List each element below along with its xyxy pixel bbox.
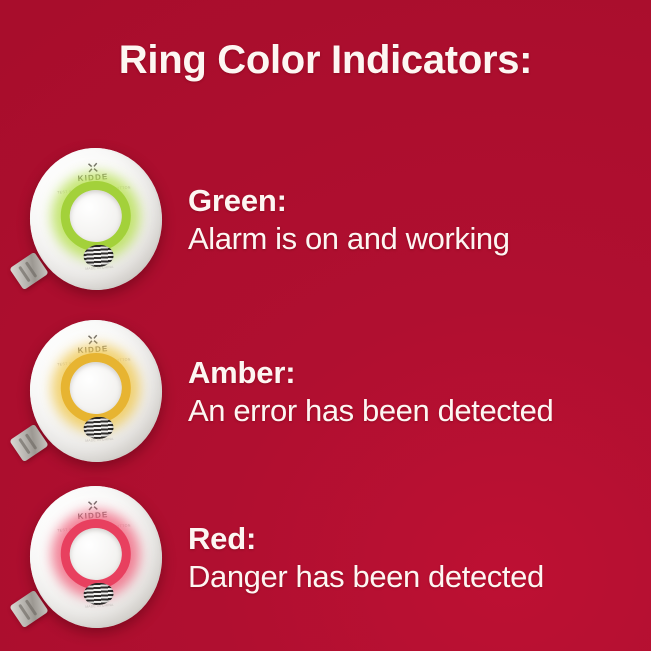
indicator-label: Green:	[188, 183, 651, 220]
smoke-detector-amber: KIDDE TEST WEEKLY BY PUSHING BUTTON MADE…	[8, 312, 178, 472]
smoke-detector-green: KIDDE TEST WEEKLY BY PUSHING BUTTON MADE…	[8, 140, 178, 300]
status-ring-green	[58, 179, 133, 254]
indicator-row-red: KIDDE TEST WEEKLY BY PUSHING BUTTON MADE…	[0, 478, 651, 638]
indicator-text-red: Red: Danger has been detected	[178, 521, 651, 595]
indicator-text-green: Green: Alarm is on and working	[178, 183, 651, 257]
indicator-description: Alarm is on and working	[188, 220, 651, 257]
smoke-detector-red: KIDDE TEST WEEKLY BY PUSHING BUTTON MADE…	[8, 478, 178, 638]
ring-color-indicators-poster: Ring Color Indicators: KIDDE TEST WEEKLY…	[0, 0, 651, 651]
page-title: Ring Color Indicators:	[0, 38, 651, 82]
indicator-text-amber: Amber: An error has been detected	[178, 355, 651, 429]
speaker-grille-icon	[83, 581, 114, 605]
indicator-label: Amber:	[188, 355, 651, 392]
indicator-row-green: KIDDE TEST WEEKLY BY PUSHING BUTTON MADE…	[0, 140, 651, 300]
indicator-row-amber: KIDDE TEST WEEKLY BY PUSHING BUTTON MADE…	[0, 312, 651, 472]
status-ring-amber	[58, 351, 133, 426]
indicator-description: An error has been detected	[188, 392, 651, 429]
speaker-grille-icon	[83, 243, 114, 267]
indicator-label: Red:	[188, 521, 651, 558]
status-ring-red	[58, 517, 133, 592]
indicator-description: Danger has been detected	[188, 558, 651, 595]
speaker-grille-icon	[83, 415, 114, 439]
